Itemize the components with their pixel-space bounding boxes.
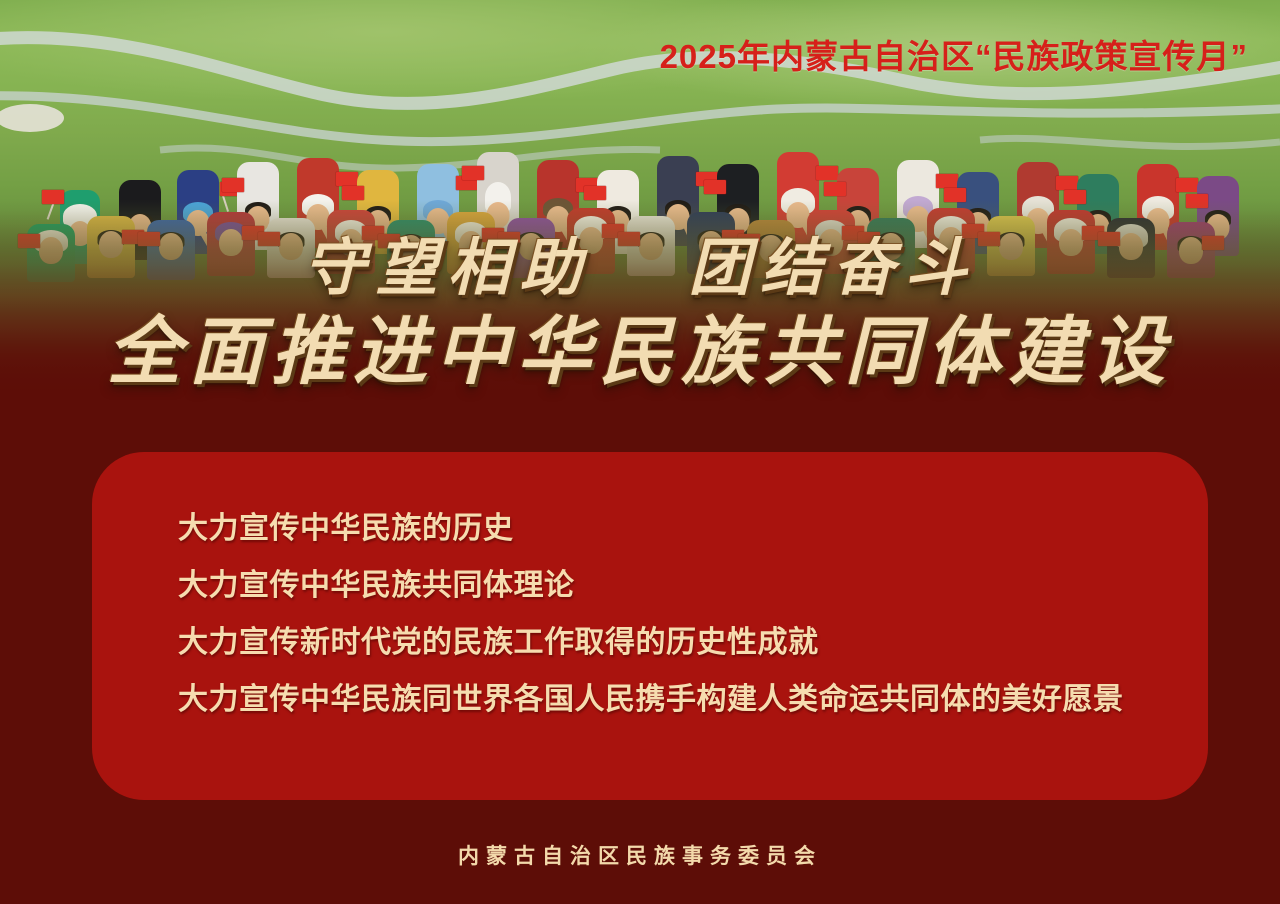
slogan-item-4: 大力宣传中华民族同世界各国人民携手构建人类命运共同体的美好愿景 <box>178 671 1168 728</box>
title-line-1-part-2: 团结奋斗 <box>689 235 977 303</box>
slogan-item-2: 大力宣传中华民族共同体理论 <box>178 557 1168 614</box>
title-line-1: 守望相助 团结奋斗 <box>0 238 1280 300</box>
footer-issuer: 内蒙古自治区民族事务委员会 <box>0 840 1280 870</box>
main-title: 守望相助 团结奋斗 全面推进中华民族共同体建设 <box>0 238 1280 390</box>
title-line-1-part-1: 守望相助 <box>303 235 591 303</box>
slogan-list: 大力宣传中华民族的历史 大力宣传中华民族共同体理论 大力宣传新时代党的民族工作取… <box>178 500 1168 728</box>
slogan-item-1: 大力宣传中华民族的历史 <box>178 500 1168 557</box>
header-campaign-banner: 2025年内蒙古自治区“民族政策宣传月” <box>660 30 1248 78</box>
slogan-item-3: 大力宣传新时代党的民族工作取得的历史性成就 <box>178 614 1168 671</box>
slogan-panel: 大力宣传中华民族的历史 大力宣传中华民族共同体理论 大力宣传新时代党的民族工作取… <box>92 452 1208 800</box>
title-line-2: 全面推进中华民族共同体建设 <box>0 316 1280 390</box>
poster-root: 2025年内蒙古自治区“民族政策宣传月” 守望相助 团结奋斗 全面推进中华民族共… <box>0 0 1280 904</box>
